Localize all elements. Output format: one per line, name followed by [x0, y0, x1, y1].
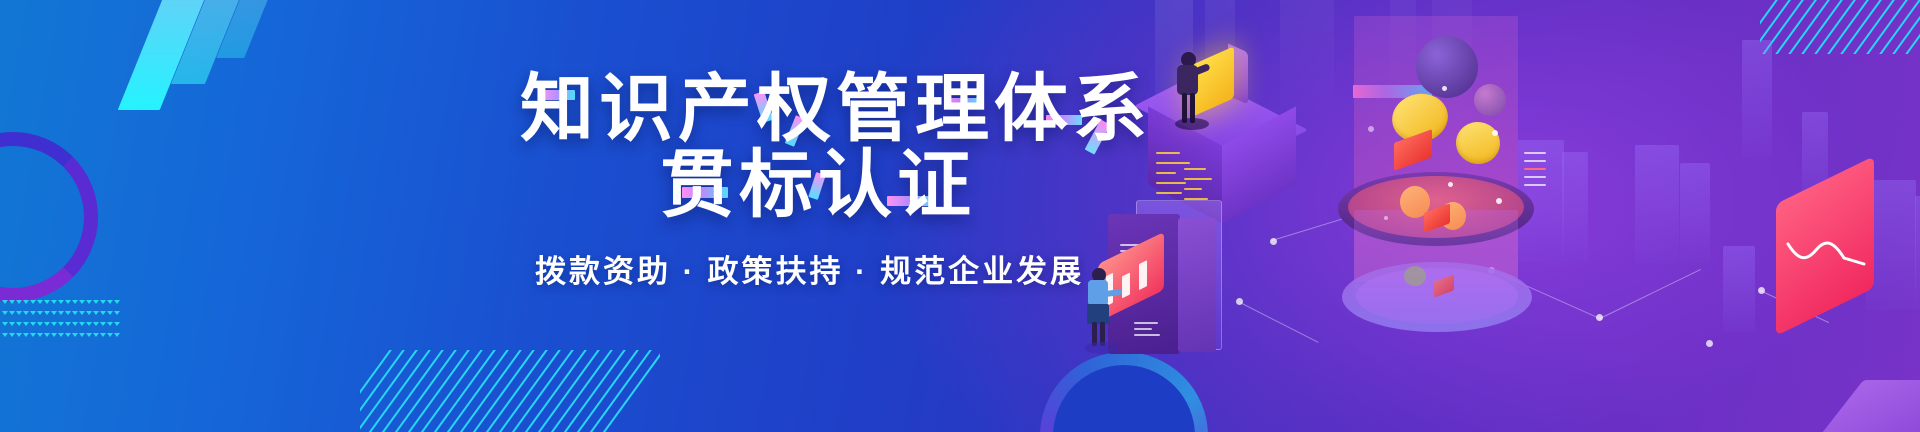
woman-arm [1104, 289, 1123, 297]
promo-banner: 知识产权管理体系 贯标认证 拨款资助 · 政策扶持 · 规范企业发展 [0, 0, 1920, 432]
title-accent-chip [944, 98, 980, 108]
woman-shadow [1085, 342, 1119, 354]
title-accent-chip [541, 90, 575, 100]
connector-node [1706, 340, 1713, 347]
connector-node [1596, 314, 1603, 321]
data-tick [1156, 162, 1190, 164]
coin-in-base [1404, 266, 1426, 286]
data-tick [1156, 172, 1176, 174]
isometric-illustration [1040, 0, 1920, 432]
data-tick [1156, 182, 1186, 184]
coin-cylinder [1338, 16, 1538, 346]
woman-skirt [1087, 304, 1109, 324]
purple-sphere [1416, 36, 1478, 98]
sparkle-dot [1492, 130, 1498, 136]
wave-chart-card [1770, 176, 1900, 336]
connector-node [1758, 287, 1765, 294]
title-accent-chip [682, 187, 728, 198]
sparkle-dot [1384, 216, 1388, 220]
person-shadow [1175, 118, 1209, 130]
data-tick [1184, 178, 1212, 180]
chart-bar [1139, 260, 1147, 290]
data-tick [1156, 152, 1180, 154]
data-tick [1184, 188, 1202, 190]
panel-data-line [1134, 334, 1160, 336]
building-shape [1680, 163, 1710, 263]
sparkle-dot [1442, 86, 1447, 91]
banner-text-block: 知识产权管理体系 贯标认证 拨款资助 · 政策扶持 · 规范企业发展 [0, 0, 1120, 432]
dashboard-panel-scene [1068, 196, 1308, 386]
data-tick [1184, 168, 1206, 170]
connector-line [1600, 269, 1701, 319]
sparkle-dot [1368, 126, 1374, 132]
panel-data-line [1134, 328, 1152, 330]
sparkle-dot [1496, 198, 1502, 204]
title-accent-chip [887, 196, 933, 206]
building-shape [1723, 246, 1755, 332]
sparkle-dot [1448, 182, 1453, 187]
building-shape [1562, 152, 1588, 262]
banner-subtitle: 拨款资助 · 政策扶持 · 规范企业发展 [535, 246, 1084, 291]
building-shape [1635, 145, 1679, 263]
panel-side [1178, 218, 1216, 352]
wave-chart-line [1786, 228, 1866, 280]
building-shape [1915, 196, 1920, 310]
woman-figure [1082, 268, 1128, 354]
ground-plate [1817, 380, 1920, 432]
purple-sphere-small [1474, 84, 1506, 116]
building-shape [1742, 40, 1772, 158]
panel-data-line [1134, 322, 1158, 324]
data-tick [1156, 192, 1182, 194]
person-on-platform [1173, 48, 1227, 130]
